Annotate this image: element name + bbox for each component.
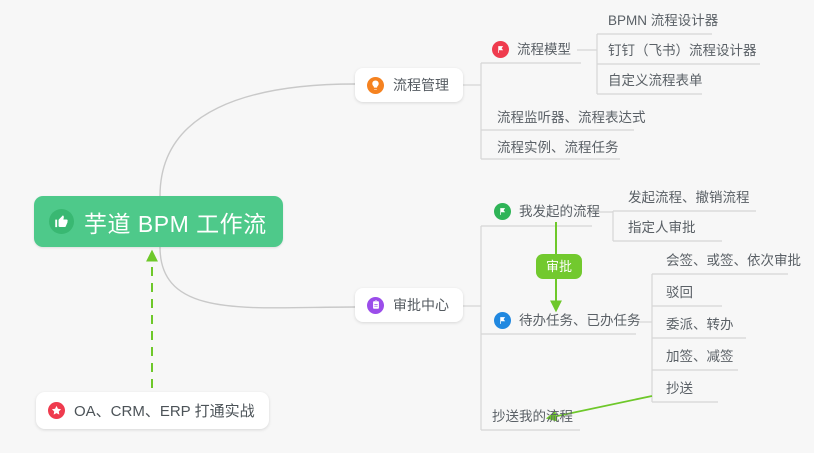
node-label: 流程管理 xyxy=(393,75,449,95)
leaf-custom-process-form[interactable]: 自定义流程表单 xyxy=(600,72,711,93)
leaf-my-initiated-process[interactable]: 我发起的流程 xyxy=(494,203,608,224)
leaf-dingtalk-feishu-designer[interactable]: 钉钉（飞书）流程设计器 xyxy=(600,42,765,63)
leaf-label: 我发起的流程 xyxy=(519,203,600,220)
leaf-process-instance-task[interactable]: 流程实例、流程任务 xyxy=(489,139,627,160)
leaf-process-model[interactable]: 流程模型 xyxy=(492,41,579,62)
leaf-assignee-approval[interactable]: 指定人审批 xyxy=(620,219,704,240)
leaf-add-remove-sign[interactable]: 加签、减签 xyxy=(658,348,742,369)
leaf-label: 待办任务、已办任务 xyxy=(519,312,641,329)
approval-badge[interactable]: 审批 xyxy=(536,254,582,279)
mindmap-canvas: 芋道 BPM 工作流 流程管理 审批中心 OA、CRM、ERP 打通实战 xyxy=(0,0,814,453)
leaf-countersign-modes[interactable]: 会签、或签、依次审批 xyxy=(658,252,809,273)
leaf-process-listener-expression[interactable]: 流程监听器、流程表达式 xyxy=(489,109,654,130)
node-label: OA、CRM、ERP 打通实战 xyxy=(74,400,255,421)
root-node[interactable]: 芋道 BPM 工作流 xyxy=(34,196,283,247)
leaf-start-cancel-process[interactable]: 发起流程、撤销流程 xyxy=(620,189,758,210)
star-icon xyxy=(48,402,65,419)
node-integration-footnote[interactable]: OA、CRM、ERP 打通实战 xyxy=(36,392,269,429)
leaf-cc-my-process[interactable]: 抄送我的流程 xyxy=(484,408,581,429)
leaf-carbon-copy[interactable]: 抄送 xyxy=(658,380,701,401)
thumbs-up-icon xyxy=(49,209,74,234)
leaf-delegate-transfer[interactable]: 委派、转办 xyxy=(658,316,742,337)
node-approval-center[interactable]: 审批中心 xyxy=(355,288,463,322)
node-flow-management[interactable]: 流程管理 xyxy=(355,68,463,102)
leaf-bpmn-designer[interactable]: BPMN 流程设计器 xyxy=(600,12,726,33)
node-label: 审批中心 xyxy=(393,295,449,315)
flag-icon xyxy=(492,41,509,58)
root-label: 芋道 BPM 工作流 xyxy=(84,205,267,239)
flag-icon xyxy=(494,312,511,329)
flag-icon xyxy=(494,203,511,220)
leaf-label: 流程模型 xyxy=(517,41,571,58)
leaf-todo-done-tasks[interactable]: 待办任务、已办任务 xyxy=(494,312,649,333)
clipboard-icon xyxy=(367,297,384,314)
lightbulb-icon xyxy=(367,77,384,94)
leaf-reject[interactable]: 驳回 xyxy=(658,284,701,305)
